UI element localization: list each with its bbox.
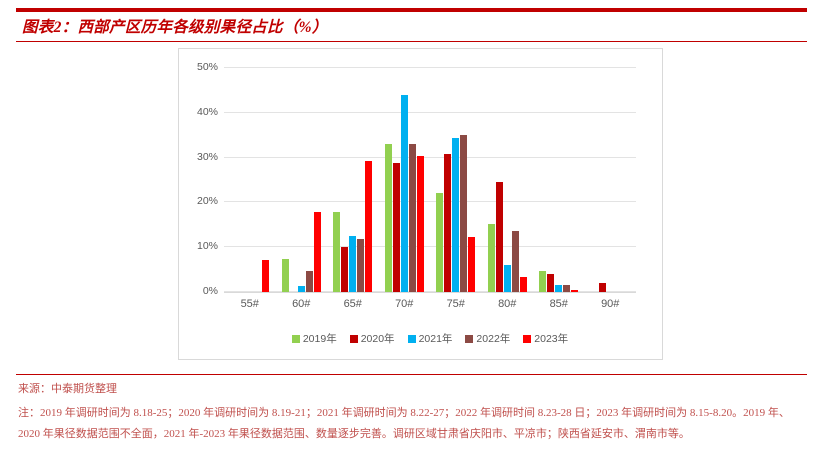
y-axis-tick-label: 30%: [197, 151, 218, 163]
bar[interactable]: [417, 156, 424, 292]
bar[interactable]: [385, 144, 392, 292]
bar[interactable]: [262, 260, 269, 292]
x-axis-tick-label: 75#: [430, 298, 482, 310]
x-axis-line: [224, 292, 636, 293]
bar[interactable]: [468, 237, 475, 292]
bar[interactable]: [539, 271, 546, 292]
chart-legend: 2019年2020年2021年2022年2023年: [224, 331, 636, 346]
legend-label: 2022年: [476, 331, 510, 346]
bar[interactable]: [563, 285, 570, 292]
bar[interactable]: [512, 231, 519, 292]
x-axis-tick-label: 70#: [379, 298, 431, 310]
bar-group: [379, 68, 431, 292]
source-text: 来源：中泰期货整理: [18, 380, 117, 396]
title-top-rule: [16, 8, 807, 12]
y-axis-tick-label: 50%: [197, 61, 218, 73]
x-axis-tick-label: 55#: [224, 298, 276, 310]
bar[interactable]: [349, 236, 356, 292]
legend-label: 2019年: [303, 331, 337, 346]
bar-group: [533, 68, 585, 292]
legend-label: 2021年: [419, 331, 453, 346]
y-axis-tick-label: 0%: [203, 285, 218, 297]
note-text: 注：2019 年调研时间为 8.18-25；2020 年调研时间为 8.19-2…: [18, 403, 808, 445]
footer-rule: [16, 374, 807, 375]
x-axis-labels: 55#60#65#70#75#80#85#90#: [224, 298, 636, 310]
bar[interactable]: [401, 95, 408, 292]
bar[interactable]: [547, 274, 554, 292]
bar[interactable]: [333, 212, 340, 292]
legend-item[interactable]: 2022年: [465, 331, 510, 346]
legend-swatch-icon: [465, 335, 473, 343]
legend-swatch-icon: [292, 335, 300, 343]
chart-container: 0%10%20%30%40%50% 55#60#65#70#75#80#85#9…: [178, 48, 663, 360]
legend-label: 2023年: [534, 331, 568, 346]
legend-label: 2020年: [361, 331, 395, 346]
bar[interactable]: [409, 144, 416, 292]
bar-group: [327, 68, 379, 292]
bar[interactable]: [444, 154, 451, 292]
bar[interactable]: [282, 259, 289, 292]
y-axis-tick-label: 10%: [197, 240, 218, 252]
legend-swatch-icon: [350, 335, 358, 343]
legend-item[interactable]: 2019年: [292, 331, 337, 346]
bar[interactable]: [436, 193, 443, 292]
chart-title-block: 图表2：西部产区历年各级别果径占比（%）: [16, 8, 807, 42]
bars-layer: [224, 68, 636, 292]
bar-group: [430, 68, 482, 292]
bar[interactable]: [520, 277, 527, 292]
x-axis-tick-label: 60#: [276, 298, 328, 310]
legend-item[interactable]: 2023年: [523, 331, 568, 346]
y-axis-tick-label: 40%: [197, 106, 218, 118]
plot-area: 0%10%20%30%40%50% 55#60#65#70#75#80#85#9…: [224, 68, 636, 292]
page-title: 图表2：西部产区历年各级别果径占比（%）: [22, 15, 328, 37]
bar[interactable]: [357, 239, 364, 292]
legend-swatch-icon: [523, 335, 531, 343]
bar[interactable]: [599, 283, 606, 292]
legend-swatch-icon: [408, 335, 416, 343]
bar[interactable]: [452, 138, 459, 292]
bar[interactable]: [314, 212, 321, 292]
bar[interactable]: [496, 182, 503, 292]
bar[interactable]: [488, 224, 495, 292]
x-axis-tick-label: 80#: [482, 298, 534, 310]
bar-group: [276, 68, 328, 292]
bar[interactable]: [341, 247, 348, 292]
bar[interactable]: [504, 265, 511, 292]
bar-group: [224, 68, 276, 292]
title-bottom-rule: [16, 41, 807, 42]
y-axis-tick-label: 20%: [197, 195, 218, 207]
bar-group: [482, 68, 534, 292]
bar[interactable]: [555, 285, 562, 292]
x-axis-tick-label: 85#: [533, 298, 585, 310]
legend-item[interactable]: 2021年: [408, 331, 453, 346]
x-axis-tick-label: 65#: [327, 298, 379, 310]
bar-group: [585, 68, 637, 292]
x-axis-tick-label: 90#: [585, 298, 637, 310]
bar[interactable]: [306, 271, 313, 293]
bar[interactable]: [393, 163, 400, 292]
bar[interactable]: [460, 135, 467, 292]
legend-item[interactable]: 2020年: [350, 331, 395, 346]
bar[interactable]: [365, 161, 372, 292]
